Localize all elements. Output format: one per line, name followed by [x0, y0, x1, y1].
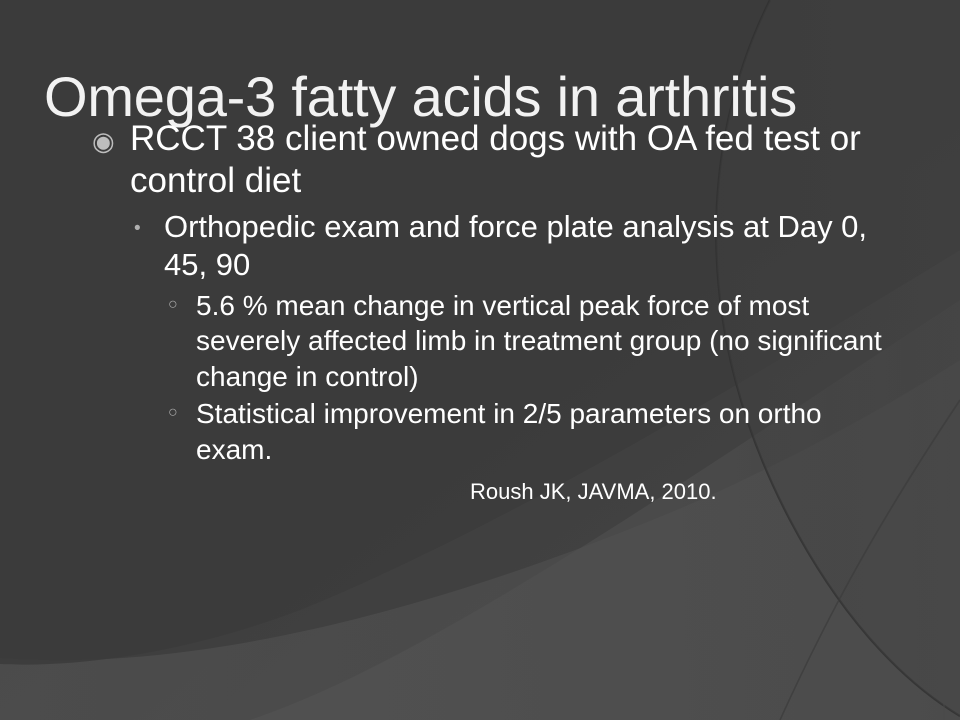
bullet-item-level1: ◉ RCCT 38 client owned dogs with OA fed … — [0, 118, 960, 202]
bullet-text-level2: Orthopedic exam and force plate analysis… — [164, 208, 894, 284]
slide-body: ◉ RCCT 38 client owned dogs with OA fed … — [0, 118, 960, 506]
presentation-slide: Omega-3 fatty acids in arthritis ◉ RCCT … — [0, 0, 960, 720]
circled-dot-bullet-icon: ◉ — [92, 118, 130, 154]
bullet-text-level1: RCCT 38 client owned dogs with OA fed te… — [130, 118, 888, 202]
hollow-circle-bullet-icon: ○ — [168, 288, 196, 313]
bullet-text-level3-b: Statistical improvement in 2/5 parameter… — [196, 396, 882, 467]
filled-circle-bullet-icon: • — [134, 208, 164, 238]
bullet-text-level3-a: 5.6 % mean change in vertical peak force… — [196, 288, 882, 395]
citation-text: Roush JK, JAVMA, 2010. — [0, 479, 960, 505]
bullet-item-level3-b: ○ Statistical improvement in 2/5 paramet… — [0, 396, 960, 467]
slide-content: Omega-3 fatty acids in arthritis ◉ RCCT … — [0, 0, 960, 720]
bullet-item-level2: • Orthopedic exam and force plate analys… — [0, 208, 960, 284]
bullet-item-level3-a: ○ 5.6 % mean change in vertical peak for… — [0, 288, 960, 395]
hollow-circle-bullet-icon: ○ — [168, 396, 196, 421]
